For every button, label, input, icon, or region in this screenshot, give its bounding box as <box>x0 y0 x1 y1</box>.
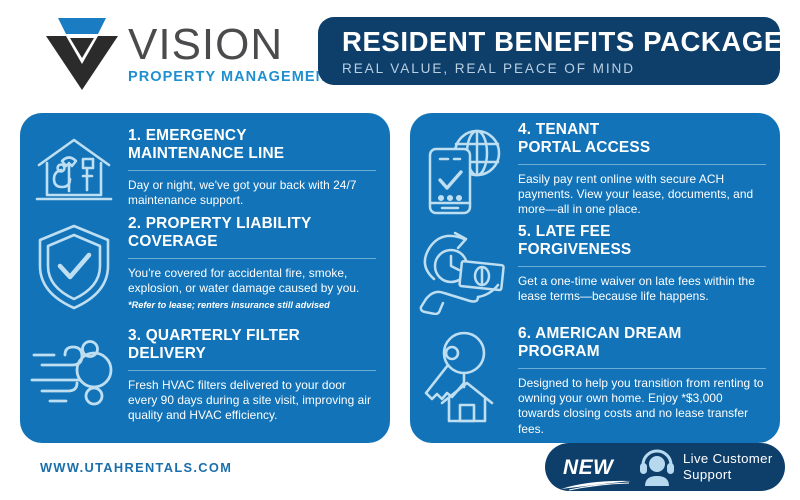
new-label: NEW <box>563 457 637 478</box>
brand-name: VISION <box>128 24 337 66</box>
support-label-line1: Live Customer <box>683 451 773 467</box>
support-label-line2: Support <box>683 467 773 483</box>
benefit-3-body: 3. QUARTERLY FILTER DELIVERY Fresh HVAC … <box>128 327 390 424</box>
benefit-2-title: 2. PROPERTY LIABILITY COVERAGE <box>128 215 376 251</box>
benefit-2-title-line1: 2. PROPERTY LIABILITY <box>128 215 376 233</box>
shield-check-icon <box>20 215 128 313</box>
page-title: RESIDENT BENEFITS PACKAGE <box>342 26 780 58</box>
benefit-5-body: 5. LATE FEE FORGIVENESS Get a one-time w… <box>518 223 780 304</box>
benefit-3-title-line1: 3. QUARTERLY FILTER <box>128 327 376 345</box>
benefit-5-title: 5. LATE FEE FORGIVENESS <box>518 223 766 259</box>
phone-globe-icon <box>410 121 518 219</box>
benefit-5-title-line1: 5. LATE FEE <box>518 223 766 241</box>
hand-money-clock-icon <box>410 223 518 315</box>
benefit-4-body: 4. TENANT PORTAL ACCESS Easily pay rent … <box>518 121 780 218</box>
benefit-3-title: 3. QUARTERLY FILTER DELIVERY <box>128 327 376 363</box>
brand-tagline: PROPERTY MANAGEMENT <box>128 69 337 85</box>
right-benefits-panel: 4. TENANT PORTAL ACCESS Easily pay rent … <box>410 113 780 443</box>
benefit-5-divider <box>518 266 766 267</box>
new-live-support-badge[interactable]: NEW Live Customer Support <box>545 443 785 491</box>
page-subtitle: REAL VALUE, REAL PEACE OF MIND <box>342 60 780 78</box>
benefit-card-6: 6. AMERICAN DREAM PROGRAM Designed to he… <box>410 325 780 437</box>
benefit-6-description: Designed to help you transition from ren… <box>518 376 766 437</box>
benefit-4-divider <box>518 164 766 165</box>
benefit-card-4: 4. TENANT PORTAL ACCESS Easily pay rent … <box>410 121 780 219</box>
brand-logo: VISION PROPERTY MANAGEMENT <box>40 14 337 92</box>
air-flow-filter-icon <box>20 327 128 409</box>
left-benefits-panel: 1. EMERGENCY MAINTENANCE LINE Day or nig… <box>20 113 390 443</box>
header: VISION PROPERTY MANAGEMENT RESIDENT BENE… <box>0 0 800 100</box>
benefit-6-body: 6. AMERICAN DREAM PROGRAM Designed to he… <box>518 325 780 437</box>
benefit-card-3: 3. QUARTERLY FILTER DELIVERY Fresh HVAC … <box>20 327 390 424</box>
keys-house-icon <box>410 325 518 427</box>
benefit-6-title-line1: 6. AMERICAN DREAM <box>518 325 766 343</box>
benefit-3-title-line2: DELIVERY <box>128 345 376 363</box>
support-label: Live Customer Support <box>683 451 773 482</box>
infographic-page: VISION PROPERTY MANAGEMENT RESIDENT BENE… <box>0 0 800 500</box>
website-url[interactable]: WWW.UTAHRENTALS.COM <box>40 460 232 475</box>
benefit-2-footnote: *Refer to lease; renters insurance still… <box>128 299 376 311</box>
headset-support-icon <box>637 448 677 486</box>
benefit-2-body: 2. PROPERTY LIABILITY COVERAGE You're co… <box>128 215 390 311</box>
benefit-4-title-line2: PORTAL ACCESS <box>518 139 766 157</box>
benefit-3-description: Fresh HVAC filters delivered to your doo… <box>128 378 376 424</box>
benefit-2-description: You're covered for accidental fire, smok… <box>128 266 376 296</box>
benefit-4-title: 4. TENANT PORTAL ACCESS <box>518 121 766 157</box>
benefit-2-divider <box>128 258 376 259</box>
vision-v-logo-icon <box>40 14 124 92</box>
benefit-2-title-line2: COVERAGE <box>128 233 376 251</box>
benefit-card-5: 5. LATE FEE FORGIVENESS Get a one-time w… <box>410 223 780 315</box>
benefit-4-description: Easily pay rent online with secure ACH p… <box>518 172 766 218</box>
benefit-card-2: 2. PROPERTY LIABILITY COVERAGE You're co… <box>20 215 390 313</box>
benefit-1-title-line1: 1. EMERGENCY <box>128 127 376 145</box>
benefit-card-1: 1. EMERGENCY MAINTENANCE LINE Day or nig… <box>20 127 390 213</box>
benefit-6-divider <box>518 368 766 369</box>
benefit-5-description: Get a one-time waiver on late fees withi… <box>518 274 766 304</box>
benefit-6-title: 6. AMERICAN DREAM PROGRAM <box>518 325 766 361</box>
benefit-1-divider <box>128 170 376 171</box>
benefit-6-title-line2: PROGRAM <box>518 343 766 361</box>
benefit-5-title-line2: FORGIVENESS <box>518 241 766 259</box>
benefit-4-title-line1: 4. TENANT <box>518 121 766 139</box>
benefit-1-description: Day or night, we've got your back with 2… <box>128 178 376 208</box>
swoosh-icon <box>559 479 635 491</box>
benefit-3-divider <box>128 370 376 371</box>
benefit-1-title-line2: MAINTENANCE LINE <box>128 145 376 163</box>
brand-wordmark: VISION PROPERTY MANAGEMENT <box>128 14 337 85</box>
header-banner: RESIDENT BENEFITS PACKAGE REAL VALUE, RE… <box>318 17 780 85</box>
benefit-1-title: 1. EMERGENCY MAINTENANCE LINE <box>128 127 376 163</box>
house-tools-icon <box>20 127 128 213</box>
benefit-1-body: 1. EMERGENCY MAINTENANCE LINE Day or nig… <box>128 127 390 208</box>
new-label-wrap: NEW <box>563 457 637 478</box>
